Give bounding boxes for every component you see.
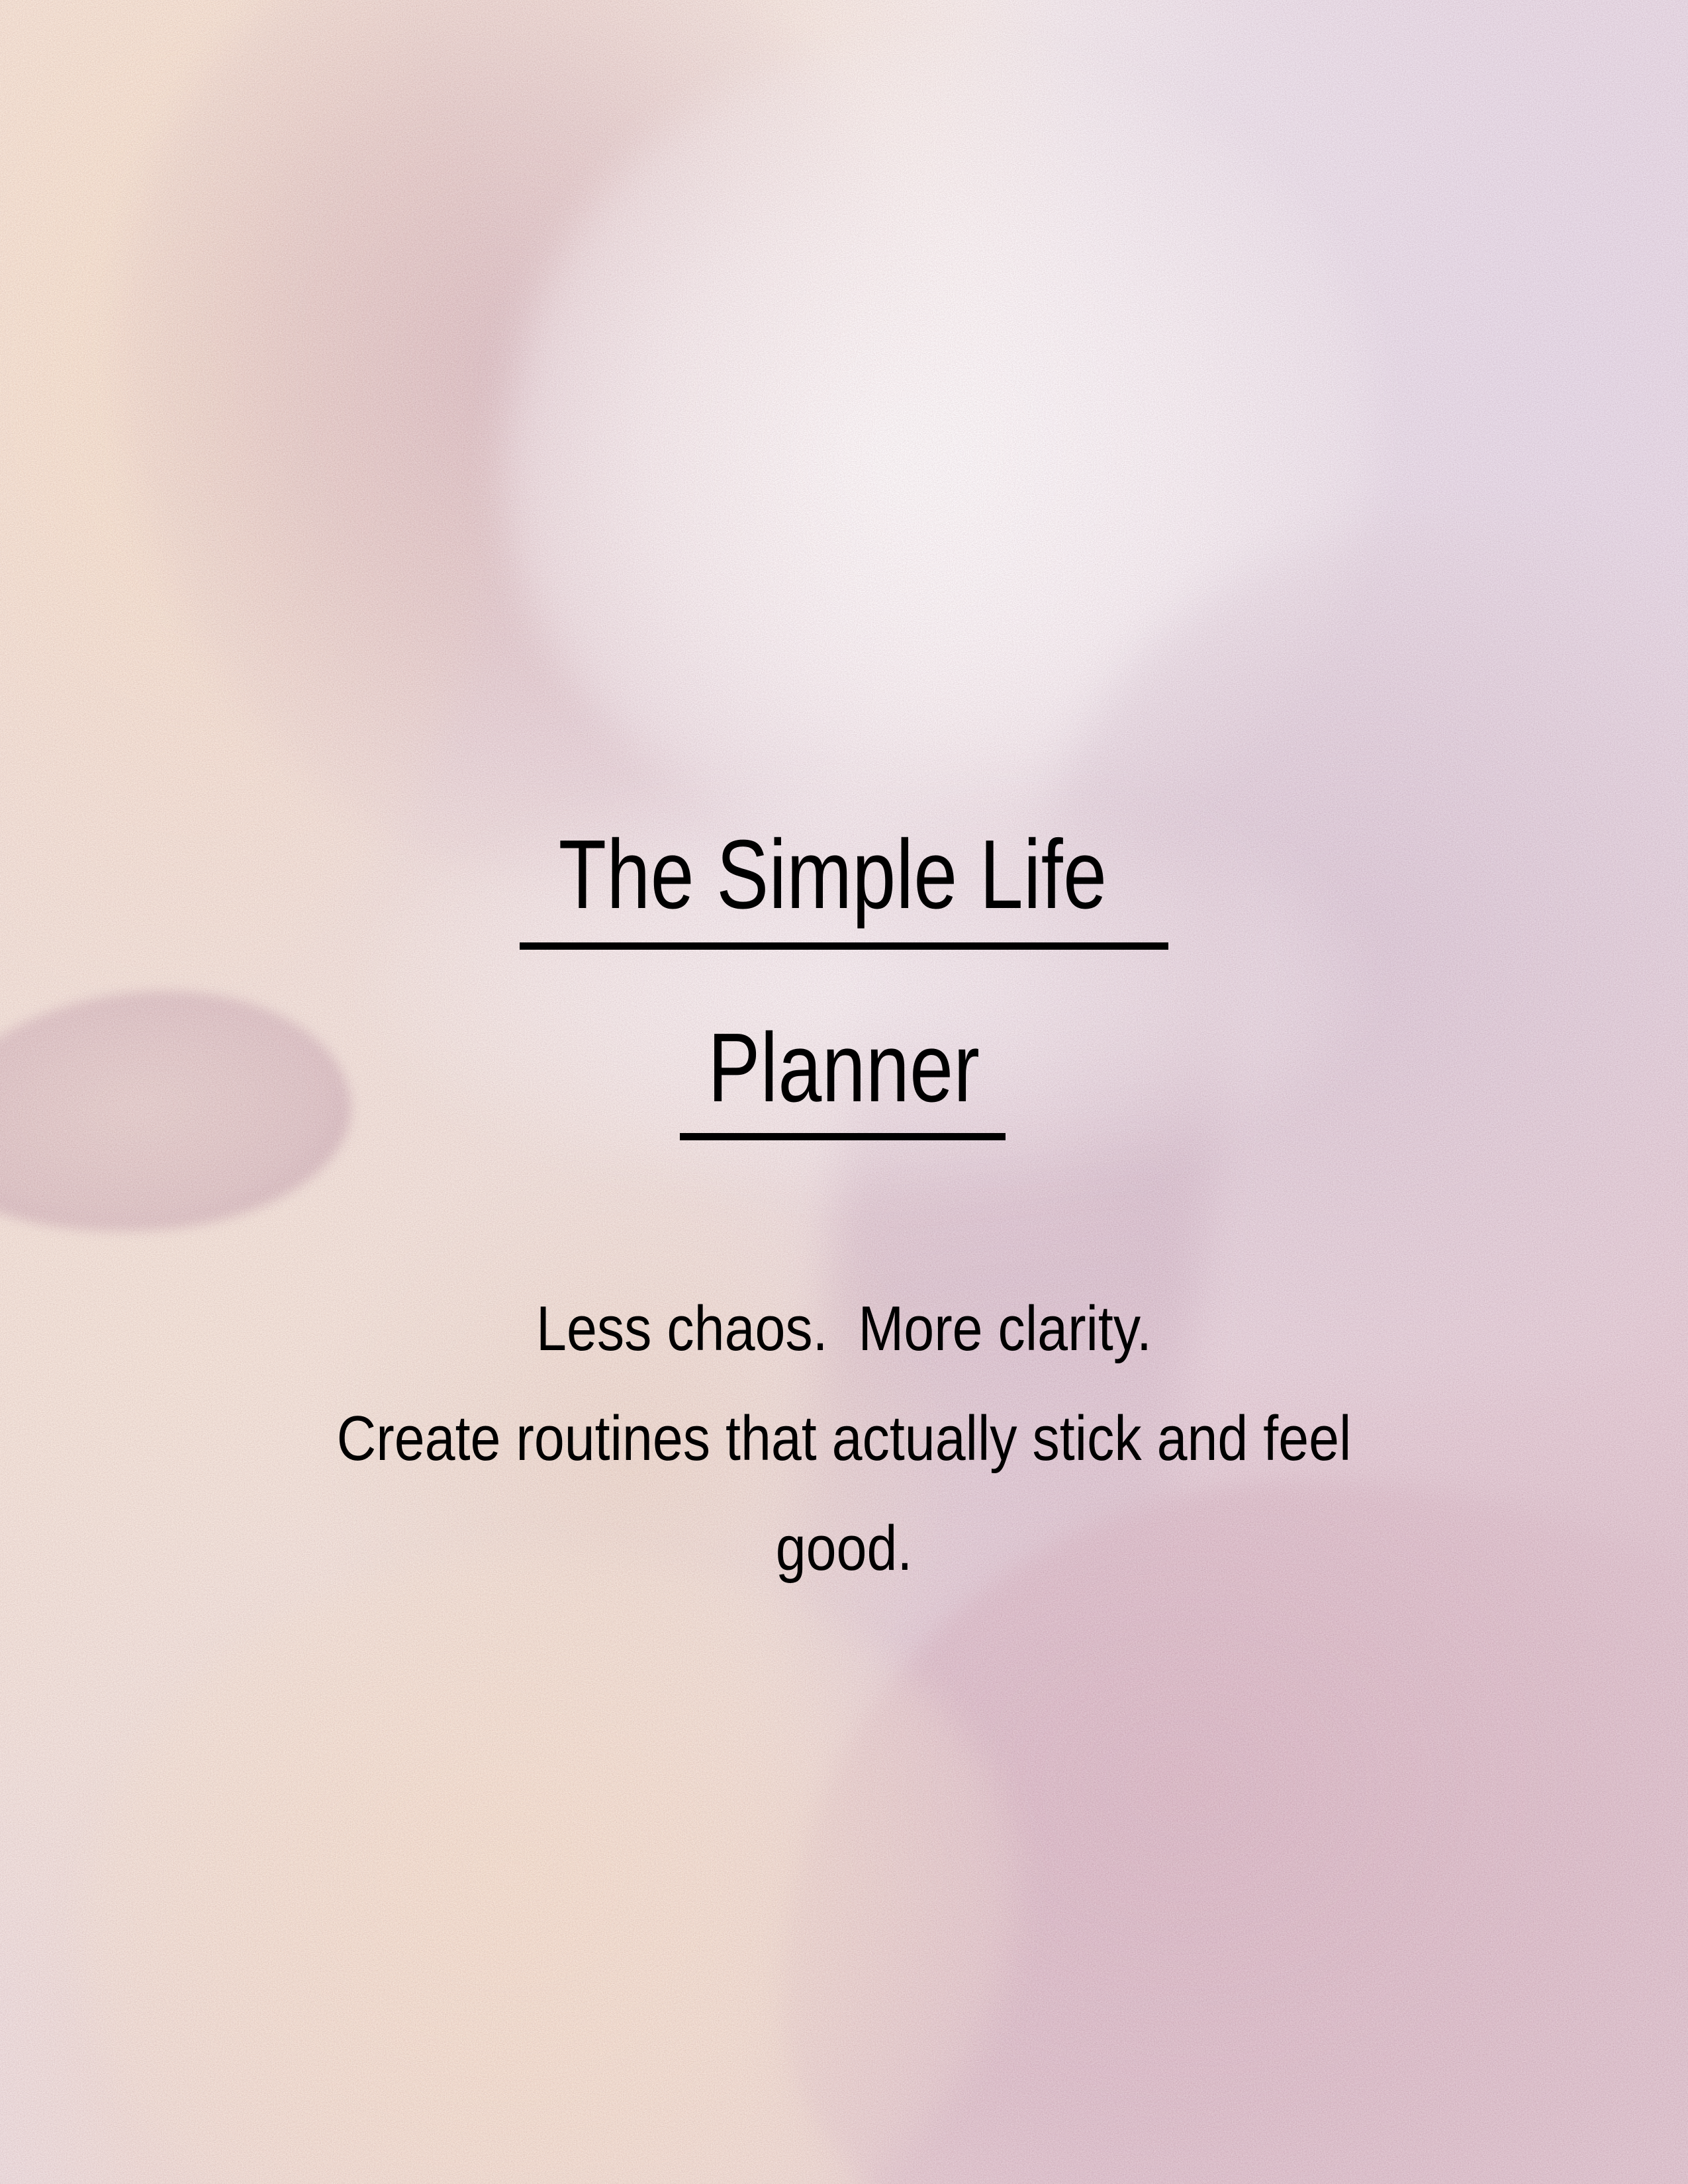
- subtitle-line-1: Less chaos. More clarity.: [118, 1274, 1570, 1384]
- cover-content: The Simple Life Planner Less chaos. More…: [0, 0, 1688, 2184]
- title-line-1-wrapper: The Simple Life: [0, 826, 1688, 924]
- subtitle-block: Less chaos. More clarity. Create routine…: [0, 1274, 1688, 1604]
- title-line-2-wrapper: Planner: [0, 1019, 1688, 1117]
- planner-cover-page: The Simple Life Planner Less chaos. More…: [0, 0, 1688, 2184]
- title-underline-2: [680, 1133, 1006, 1140]
- subtitle-line-3: good.: [118, 1494, 1570, 1604]
- subtitle-line-2: Create routines that actually stick and …: [118, 1384, 1570, 1494]
- page-title-line-1: The Simple Life: [559, 826, 1129, 924]
- title-underline-1: [520, 942, 1168, 950]
- page-title-line-2: Planner: [708, 1019, 980, 1117]
